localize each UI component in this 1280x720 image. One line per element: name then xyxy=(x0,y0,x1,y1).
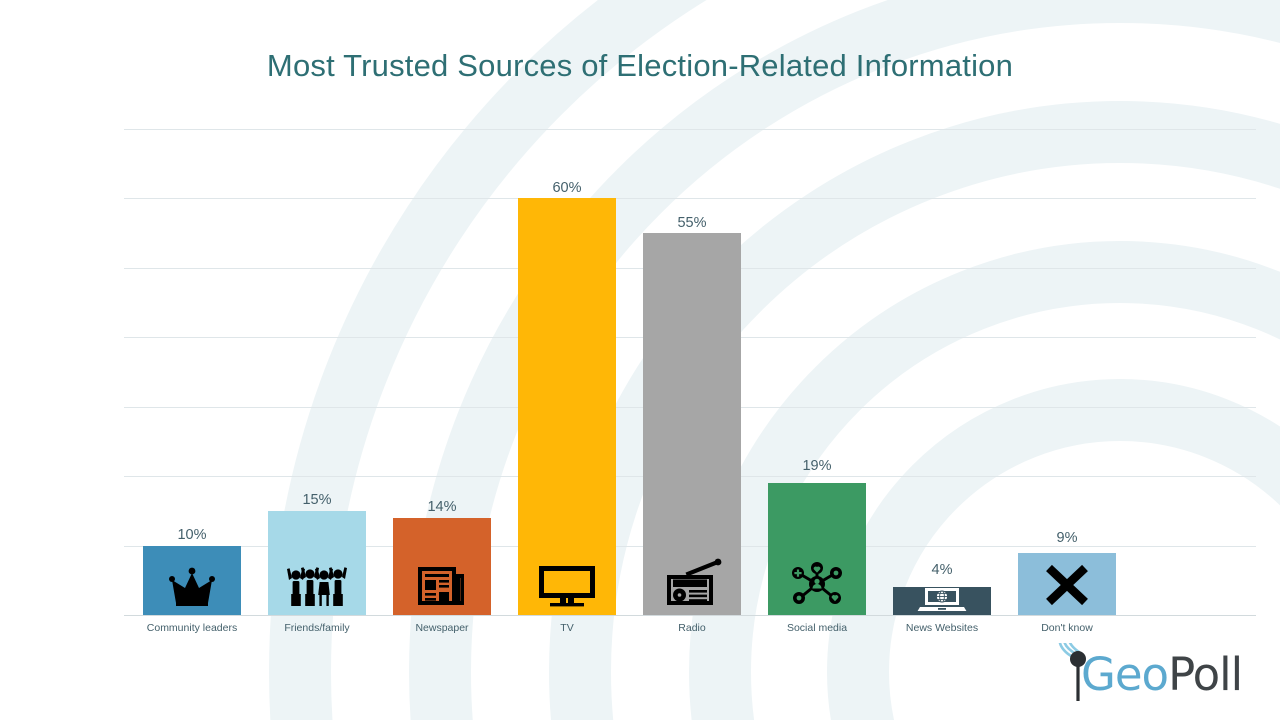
signal-mast-icon xyxy=(1051,643,1099,705)
bar-chart-plot-area: 70% 60% 50% 40% 30% 20% 10% 0% 10% xyxy=(124,129,1256,615)
geopoll-wordmark: GeoPoll xyxy=(1081,652,1242,697)
people-group-icon xyxy=(286,561,348,609)
x-mark-icon xyxy=(1043,563,1091,607)
bar-value-friends-family: 15% xyxy=(257,492,377,508)
bar-radio[interactable] xyxy=(643,233,741,615)
gridline-70 xyxy=(124,129,1256,130)
bar-value-tv: 60% xyxy=(507,180,627,196)
slide-canvas: Most Trusted Sources of Election-Related… xyxy=(0,0,1280,720)
geopoll-logo: GeoPoll xyxy=(1043,641,1267,707)
bar-value-newspaper: 14% xyxy=(382,499,502,515)
bar-value-radio: 55% xyxy=(632,215,752,231)
bar-value-social-media: 19% xyxy=(757,458,877,474)
bar-value-news-websites: 4% xyxy=(882,562,1002,578)
bar-friends-family[interactable] xyxy=(268,511,366,615)
bar-tv[interactable] xyxy=(518,198,616,615)
social-network-icon xyxy=(789,559,845,609)
bar-social-media[interactable] xyxy=(768,483,866,615)
gridline-60 xyxy=(124,198,1256,199)
bar-community-leaders[interactable] xyxy=(143,546,241,615)
bar-dont-know[interactable] xyxy=(1018,553,1116,616)
newspaper-icon xyxy=(416,563,468,609)
bar-news-websites[interactable] xyxy=(893,587,991,615)
category-label-dont-know: Don't know xyxy=(987,622,1147,634)
bar-value-dont-know: 9% xyxy=(1007,530,1127,546)
tv-icon xyxy=(536,563,598,609)
radio-icon xyxy=(661,557,723,609)
logo-text-poll: Poll xyxy=(1168,648,1242,701)
axis-baseline xyxy=(124,615,1256,616)
bar-newspaper[interactable] xyxy=(393,518,491,615)
laptop-globe-icon xyxy=(914,587,970,613)
crown-icon xyxy=(166,567,218,609)
page-title: Most Trusted Sources of Election-Related… xyxy=(0,48,1280,84)
bar-value-community-leaders: 10% xyxy=(132,527,252,543)
